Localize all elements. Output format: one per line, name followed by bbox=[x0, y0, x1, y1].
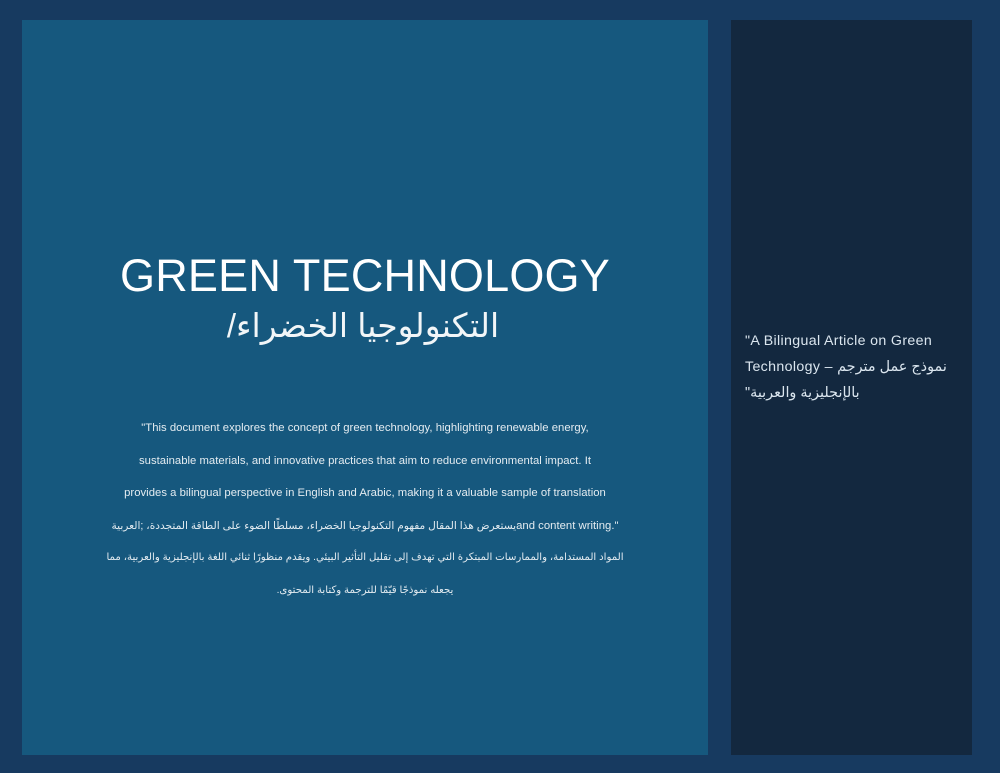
body-line-mixed: and content writing."يستعرض هذا المقال م… bbox=[36, 510, 694, 543]
document-body: "This document explores the concept of g… bbox=[36, 412, 694, 607]
body-line-english-run: and content writing." bbox=[516, 520, 618, 532]
side-note: "A Bilingual Article on Green Technology… bbox=[745, 328, 958, 406]
body-line: provides a bilingual perspective in Engl… bbox=[36, 477, 694, 510]
title-block: GREEN TECHNOLOGY التكنولوجيا الخضراء/ bbox=[22, 252, 708, 347]
body-line: sustainable materials, and innovative pr… bbox=[36, 445, 694, 478]
slide-canvas: GREEN TECHNOLOGY التكنولوجيا الخضراء/ "T… bbox=[0, 0, 1000, 773]
body-line-arabic-run: يستعرض هذا المقال مفهوم التكنولوجيا الخض… bbox=[111, 520, 516, 532]
page-title: GREEN TECHNOLOGY bbox=[36, 252, 694, 301]
page-title-arabic: التكنولوجيا الخضراء/ bbox=[36, 305, 694, 347]
body-line-arabic: المواد المستدامة، والممارسات المبتكرة ال… bbox=[36, 542, 694, 575]
body-line: "This document explores the concept of g… bbox=[36, 412, 694, 445]
main-document-panel: GREEN TECHNOLOGY التكنولوجيا الخضراء/ "T… bbox=[22, 20, 708, 755]
body-line-arabic: يجعله نموذجًا قيّمًا للترجمة وكتابة المح… bbox=[36, 575, 694, 608]
side-note-panel: "A Bilingual Article on Green Technology… bbox=[731, 20, 972, 755]
